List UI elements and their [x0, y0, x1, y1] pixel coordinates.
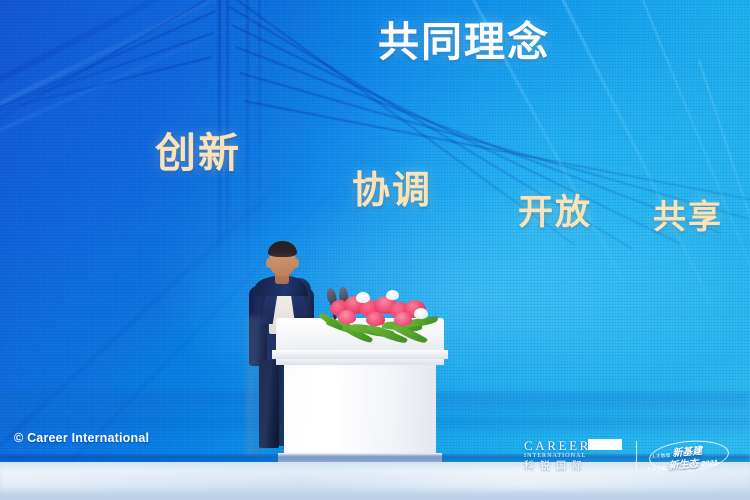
slogan-line2-small: 产业互联	[647, 465, 667, 473]
slogan-year: 2021	[701, 458, 718, 468]
slide-keyword-1: 创新	[155, 119, 241, 179]
slide-keyword-4: 共享	[653, 190, 723, 238]
event-logo-banner: CAREER INTERNATIONAL 科锐国际 人才数智 新基建 产业互联 …	[520, 437, 746, 475]
flower-blossom	[338, 310, 356, 324]
bridge-pylon	[246, 0, 249, 300]
logo-brand-chinese: 科锐国际	[524, 461, 628, 473]
flower-filler	[386, 290, 399, 300]
logo-accent-block	[588, 439, 622, 450]
flower-blossom	[394, 312, 412, 326]
slide-keyword-3: 开放	[518, 184, 592, 235]
podium-column	[284, 365, 436, 453]
flower-blossom	[366, 312, 385, 326]
slide-headline: 共同理念	[378, 8, 550, 68]
ear-right	[293, 258, 299, 268]
slogan-line2-big: 新生态	[668, 455, 699, 473]
logo-divider	[636, 441, 637, 471]
ear-left	[266, 258, 272, 268]
logo-brand-international-row: INTERNATIONAL	[524, 453, 628, 460]
event-slogan-mark: 人才数智 新基建 产业互联 新生态 2021	[645, 439, 745, 473]
career-international-logo: CAREER INTERNATIONAL 科锐国际	[520, 439, 628, 473]
podium-moulding	[272, 350, 448, 359]
slide-keyword-2: 协调	[352, 159, 432, 214]
logo-brand-international: INTERNATIONAL	[524, 453, 586, 460]
flower-filler	[414, 308, 428, 319]
copyright-watermark: © Career International	[14, 431, 149, 445]
screenshot-root: 共同理念 创新 协调 开放 共享	[0, 0, 750, 500]
flower-filler	[356, 292, 370, 303]
podium-shadow	[246, 316, 272, 456]
hair	[268, 241, 297, 257]
